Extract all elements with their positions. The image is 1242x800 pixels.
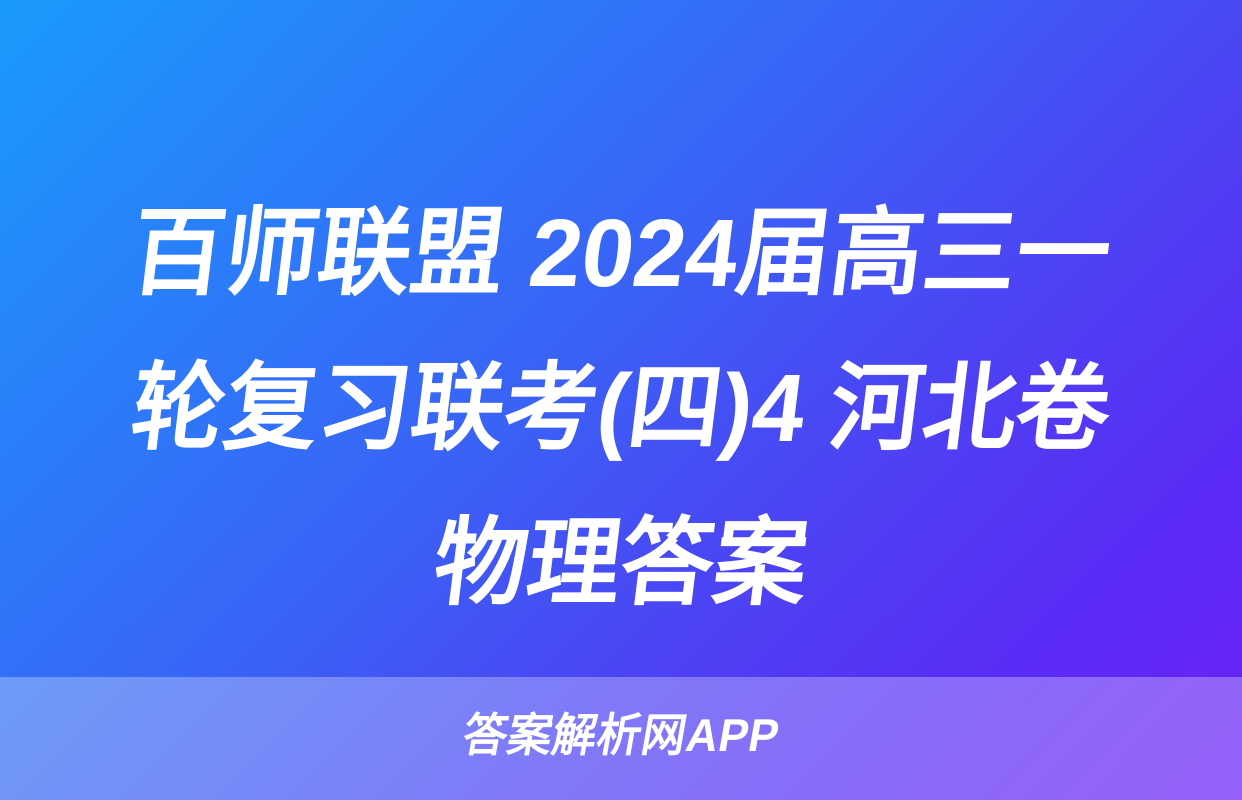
headline-line-2: 轮复习联考(四)4 河北卷: [123, 331, 1120, 486]
headline-line-1: 百师联盟 2024届高三一: [122, 176, 1119, 331]
headline-block: 百师联盟 2024届高三一 轮复习联考(四)4 河北卷 物理答案: [0, 176, 1242, 646]
watermark-label: 答案解析网APP: [458, 706, 784, 764]
headline-line-3: 物理答案: [425, 486, 817, 641]
watermark: 答案解析网APP: [0, 706, 1242, 764]
poster-canvas: 百师联盟 2024届高三一 轮复习联考(四)4 河北卷 物理答案 答案解析网AP…: [0, 0, 1242, 800]
